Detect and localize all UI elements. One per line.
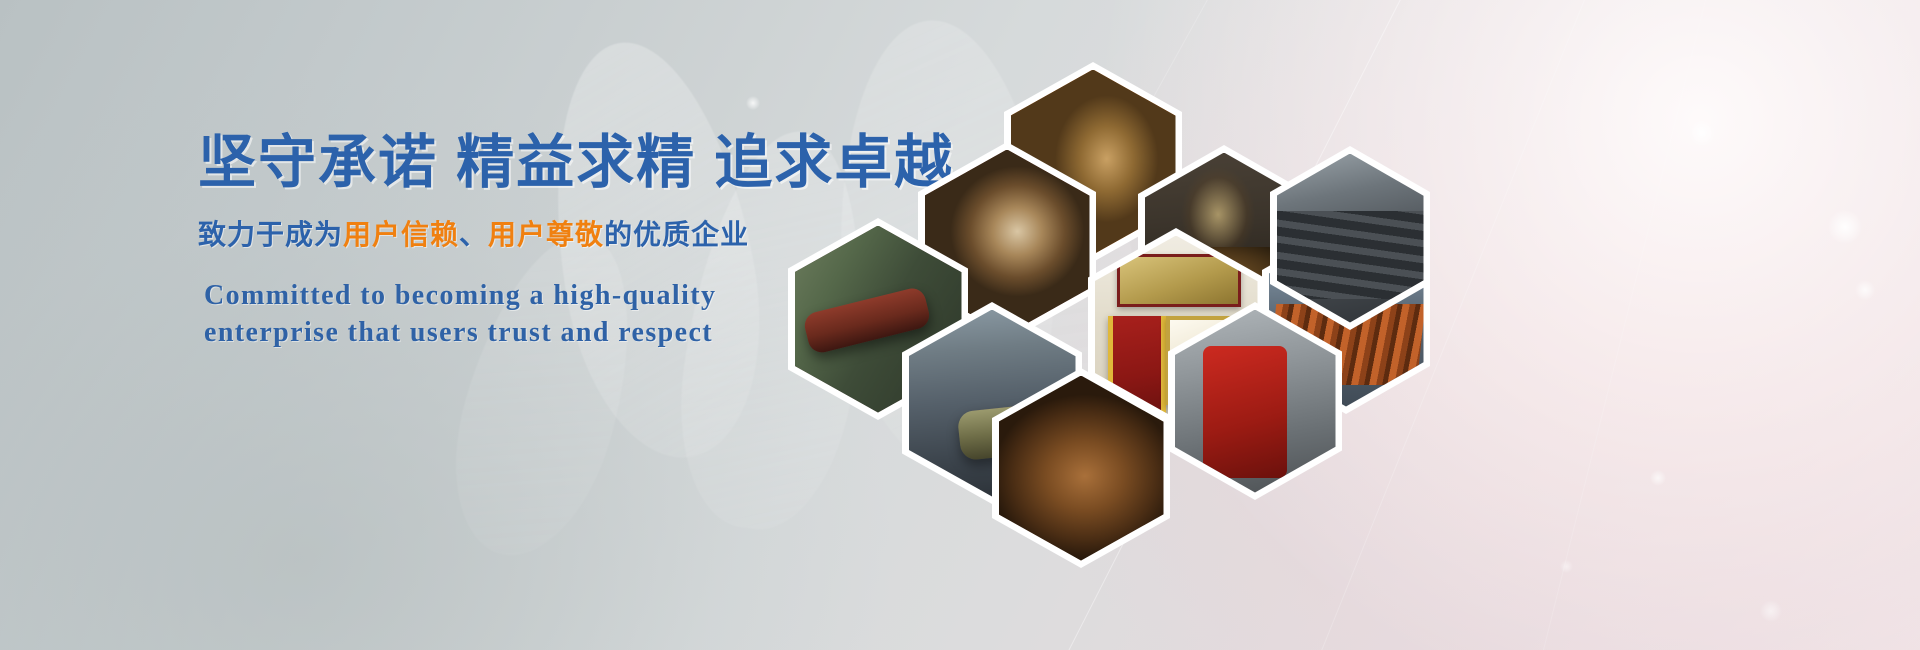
hexagon-photo-collage xyxy=(770,50,1430,510)
subtitle-separator: 、 xyxy=(459,219,488,250)
lens-flare-icon xyxy=(746,96,760,110)
subtitle-tail: 的优质企业 xyxy=(604,219,749,250)
subtitle-lead: 致力于成为 xyxy=(198,219,343,250)
subtitle-highlight-respect: 用户尊敬 xyxy=(488,219,604,250)
lens-flare-icon xyxy=(1855,280,1875,300)
light-streak-icon xyxy=(1512,0,1721,650)
lens-flare-icon xyxy=(1689,120,1715,146)
lens-flare-icon xyxy=(1828,210,1862,244)
subtitle-highlight-trust: 用户信赖 xyxy=(343,219,459,250)
hero-banner: 坚守承诺 精益求精 追求卓越 致力于成为用户信赖、用户尊敬的优质企业 Commi… xyxy=(0,0,1920,650)
lens-flare-icon xyxy=(1560,560,1573,573)
lens-flare-icon xyxy=(1650,470,1666,486)
lens-flare-icon xyxy=(1760,600,1782,622)
